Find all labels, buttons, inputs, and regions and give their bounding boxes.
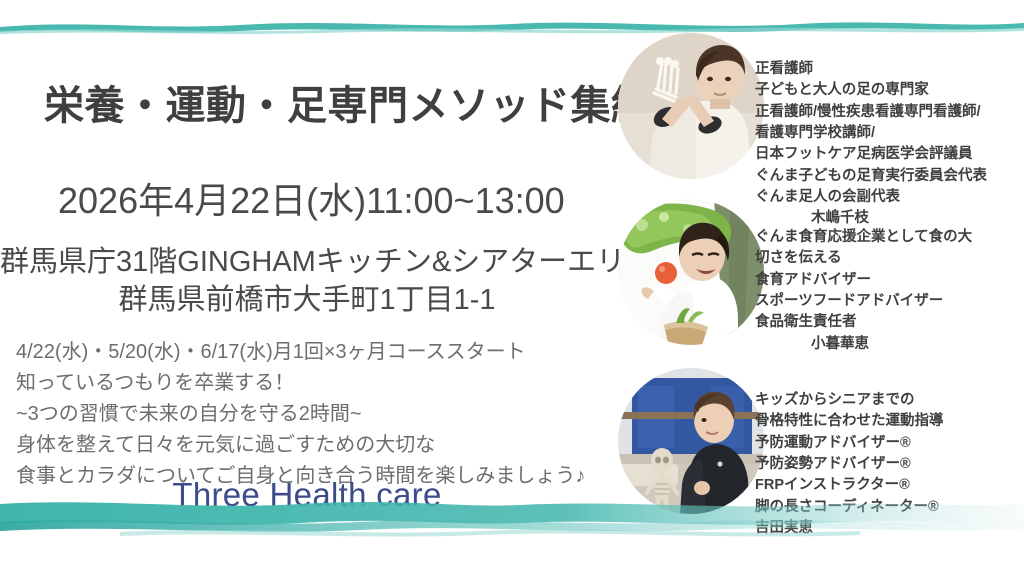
description-line-2: 知っているつもりを卒業する！ bbox=[16, 368, 585, 399]
profile-name-2: 小暮華恵 bbox=[755, 334, 1023, 355]
description-line-3: ~3つの習慣で未来の自分を守る2時間~ bbox=[16, 399, 585, 430]
credential-line: 食品衛生責任者 bbox=[755, 312, 1023, 333]
description-line-1: 4/22(水)・5/20(水)・6/17(水)月1回×3ヶ月コーススタート bbox=[16, 337, 585, 368]
credential-line: 切さを伝える bbox=[755, 248, 1023, 269]
venue-line-1: 群馬県庁31階GINGHAMキッチン&シアターエリア bbox=[0, 243, 614, 281]
event-description: 4/22(水)・5/20(水)・6/17(水)月1回×3ヶ月コーススタート 知っ… bbox=[16, 337, 585, 492]
credential-line: ぐんま食育応援企業として食の大 bbox=[755, 227, 1023, 248]
credential-line: 脚の長さコーディネーター® bbox=[755, 497, 1023, 518]
event-datetime: 2026年4月22日(水)11:00~13:00 bbox=[58, 183, 565, 219]
event-venue: 群馬県庁31階GINGHAMキッチン&シアターエリア 群馬県前橋市大手町1丁目1… bbox=[0, 243, 614, 320]
description-line-4: 身体を整えて日々を元気に過ごすための大切な bbox=[16, 430, 585, 461]
profile-name-3: 吉田実恵 bbox=[755, 518, 1023, 539]
profile-photo-2 bbox=[618, 199, 764, 345]
credential-line: ぐんま子どもの足育実行委員会代表 bbox=[755, 166, 1023, 187]
credential-line: スポーツフードアドバイザー bbox=[755, 291, 1023, 312]
brand-name: Three Health care bbox=[0, 478, 614, 511]
credential-line: キッズからシニアまでの bbox=[755, 390, 1023, 411]
profiles-column: 正看護師 子どもと大人の足の専門家 正看護師/慢性疾患看護専門看護師/ 看護専門… bbox=[612, 0, 1024, 576]
credential-line: 日本フットケア足病医学会評議員 bbox=[755, 144, 1023, 165]
profile-text-2: ぐんま食育応援企業として食の大 切さを伝える 食育アドバイザー スポーツフードア… bbox=[755, 227, 1023, 355]
profile-text-3: キッズからシニアまでの 骨格特性に合わせた運動指導 予防運動アドバイザー® 予防… bbox=[755, 390, 1023, 539]
credential-line: 正看護師 bbox=[755, 59, 1023, 80]
credential-line: 子どもと大人の足の専門家 bbox=[755, 80, 1023, 101]
profile-photo-3 bbox=[618, 368, 764, 514]
credential-line: 骨格特性に合わせた運動指導 bbox=[755, 411, 1023, 432]
credential-line: 予防姿勢アドバイザー® bbox=[755, 454, 1023, 475]
profile-text-1: 正看護師 子どもと大人の足の専門家 正看護師/慢性疾患看護専門看護師/ 看護専門… bbox=[755, 59, 1023, 230]
credential-line: 正看護師/慢性疾患看護専門看護師/ bbox=[755, 102, 1023, 123]
venue-line-2: 群馬県前橋市大手町1丁目1-1 bbox=[0, 281, 614, 319]
credential-line: ぐんま足人の会副代表 bbox=[755, 187, 1023, 208]
credential-line: 予防運動アドバイザー® bbox=[755, 433, 1023, 454]
flyer-canvas: 栄養・運動・足専門メソッド集結 2026年4月22日(水)11:00~13:00… bbox=[0, 0, 1024, 576]
profile-photo-1 bbox=[618, 33, 764, 179]
credential-line: FRPインストラクター® bbox=[755, 475, 1023, 496]
page-title: 栄養・運動・足専門メソッド集結 bbox=[44, 86, 652, 126]
credential-line: 看護専門学校講師/ bbox=[755, 123, 1023, 144]
left-content-column: 栄養・運動・足専門メソッド集結 2026年4月22日(水)11:00~13:00… bbox=[0, 0, 618, 576]
credential-line: 食育アドバイザー bbox=[755, 270, 1023, 291]
